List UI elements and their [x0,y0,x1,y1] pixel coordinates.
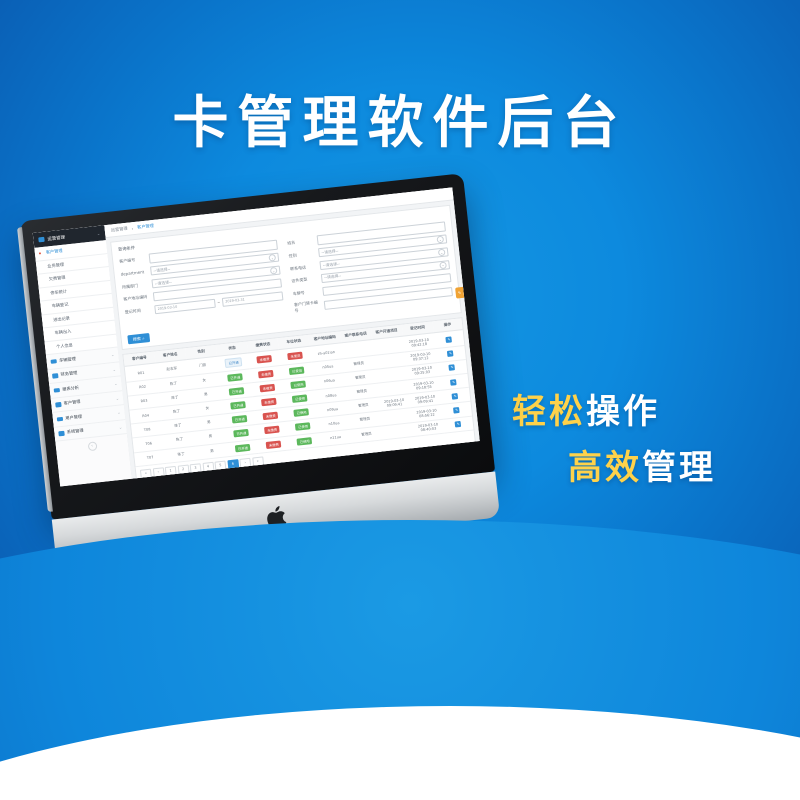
select-value: --请选择-- [323,261,340,269]
sidebar-header-label: 运营管理 [47,234,65,242]
pagination-page-4[interactable]: 4 [202,462,214,472]
floating-chat-tab[interactable]: ✎ [455,287,464,299]
search-form: 客户编号department--请选择--⌄所属部门--请选择--⌄客户地址编码… [119,221,453,332]
sidebar-item-label: 客户管理 [46,248,63,256]
edit-icon[interactable]: ✎ [452,393,459,400]
sidebar-group-label: 用户管理 [65,414,82,422]
field-label: 联系电话 [290,263,316,272]
field-label: 客户门禁卡编号 [294,300,321,315]
poster-canvas: 卡管理软件后台 轻松操作 高效管理 运营管理 ⌄ 客户管理业务管理欠费管 [0,0,800,800]
select-value: --请选择-- [321,248,338,256]
pagination-last[interactable]: » [252,456,264,466]
module-icon [52,373,58,378]
status-badge: 未缴费 [264,426,280,435]
sidebar-item-label: 欠费管理 [49,275,66,283]
status-badge: 未使用 [288,352,304,361]
status-badge: 已使用 [289,366,305,375]
pagination-page-5[interactable]: 5 [214,460,226,470]
status-badge: 已使用 [295,423,311,432]
chevron-down-icon: ⌄ [270,267,278,275]
date-to-input[interactable]: 2019-03-31 [222,291,284,307]
sidebar-group-label: 车辆管理 [59,356,76,364]
pagination-page-1[interactable]: 1 [165,466,177,476]
admin-app: 运营管理 ⌄ 客户管理业务管理欠费管理停车统计车辆登记进出记录车辆出入个人信息 … [33,187,480,486]
module-icon [58,431,64,436]
slogan-primary-gold: 轻松 [512,392,586,432]
collapse-icon: ‹ [87,441,97,451]
chevron-down-icon: ⌄ [436,236,444,244]
sidebar-group-label: 财务管理 [60,370,77,378]
chevron-down-icon: ⌄ [119,424,123,429]
pagination-prev[interactable]: ‹ [152,467,164,477]
sidebar-item-label: 车辆出入 [54,329,71,337]
field-label: 姓名 [287,238,313,247]
module-icon [57,416,63,421]
slogan-primary-white: 操作 [586,392,660,432]
status-badge: 已开通 [229,387,245,396]
sidebar-item-label: 停车统计 [50,288,67,296]
chevron-down-icon: ⌄ [97,231,101,236]
status-badge: 已开通 [232,415,248,424]
pagination-page-2[interactable]: 2 [177,464,189,474]
chevron-down-icon: ⌄ [111,352,115,357]
status-badge: 未缴费 [266,440,282,449]
field-label: 登记时间 [125,307,151,316]
sidebar-item-label: 进出记录 [53,315,70,323]
edit-icon[interactable]: ✎ [455,421,462,428]
status-badge: 未缴费 [263,412,279,421]
slogan-primary: 轻松操作 [512,384,660,433]
monitor-screen: 运营管理 ⌄ 客户管理业务管理欠费管理停车统计车辆登记进出记录车辆出入个人信息 … [33,187,480,486]
status-badge: 已开通 [227,373,243,382]
field-label: 车牌号 [293,289,319,298]
field-label: 客户编号 [119,256,145,265]
edit-icon[interactable]: ✎ [450,379,457,386]
sidebar-group-list: 车辆管理⌄财务管理⌄报表分析⌄客户管理⌄用户管理⌄系统管理⌄ [46,348,127,442]
chevron-down-icon: ⌄ [115,395,119,400]
search-form-right-column: 姓名性别--请选择--⌄联系电话--请选择--⌄证件类型--请选择--⌄车牌号客… [287,221,453,314]
pagination-page-6[interactable]: 6 [227,459,239,469]
pagination-first[interactable]: « [140,468,152,478]
page-title: 卡管理软件后台 [0,78,800,159]
breadcrumb-root[interactable]: 运营管理 [111,226,128,234]
module-icon [38,237,45,243]
slogan-secondary: 高效管理 [568,440,716,489]
status-badge: 已开通 [235,443,251,452]
module-icon [54,388,60,393]
status-badge: 未缴费 [260,384,276,393]
field-label: 所属部门 [122,281,148,290]
search-form-left-column: 客户编号department--请选择--⌄所属部门--请选择--⌄客户地址编码… [119,240,285,333]
select-value: --请选择-- [153,266,170,274]
edit-icon[interactable]: ✎ [449,365,456,372]
chevron-down-icon: ⌄ [114,381,118,386]
sidebar-group-label: 报表分析 [62,385,79,393]
chevron-down-icon: ⌄ [112,367,116,372]
status-badge: 未缴费 [257,355,273,364]
sidebar-item-label: 业务管理 [47,262,64,270]
chevron-down-icon: ⌄ [438,249,446,257]
pagination-page-3[interactable]: 3 [190,463,202,473]
field-label: 证件类型 [291,276,317,285]
field-label: 客户地址编码 [123,294,149,303]
edit-icon[interactable]: ✎ [446,336,453,343]
status-badge: 已使用 [294,409,310,418]
status-badge: 已使用 [291,380,307,389]
breadcrumb-current: 客户管理 [137,223,154,231]
main-content: 运营管理 › 客户管理 查询条件 客户编号department--请选择--⌄所… [104,187,479,478]
chevron-down-icon: ⌄ [439,261,447,269]
status-badge: 未缴费 [261,398,277,407]
status-badge: 已使用 [297,437,313,446]
status-badge: 未缴费 [258,370,274,379]
status-badge: 已开通 [231,401,247,410]
date-range-separator: ~ [217,300,220,304]
sidebar-group-label: 系统管理 [67,428,84,436]
sidebar-item-label: 车辆登记 [51,302,68,310]
field-label: department [120,269,146,277]
search-icon: ⌕ [142,336,145,341]
chevron-down-icon: ⌄ [117,410,121,415]
status-badge: 已开通 [225,357,243,368]
search-button[interactable]: 搜索 ⌕ [127,333,150,344]
date-from-input[interactable]: 2019-03-10 [154,298,216,314]
chevron-down-icon: ⌄ [268,254,276,262]
pagination-next[interactable]: › [239,458,251,468]
breadcrumb-separator: › [131,226,133,231]
slogan-secondary-white: 管理 [642,448,716,488]
monitor-bezel: 运营管理 ⌄ 客户管理业务管理欠费管理停车统计车辆登记进出记录车辆出入个人信息 … [19,173,495,519]
sidebar-group-label: 客户管理 [64,399,81,407]
select-value: --请选择-- [324,273,341,281]
search-button-label: 搜索 [133,336,142,343]
field-label: 性别 [288,250,314,259]
status-badge: 已开通 [234,429,250,438]
module-icon [50,359,56,364]
slogan-secondary-gold: 高效 [568,448,642,488]
status-badge: 已使用 [292,394,308,403]
select-value: --请选择-- [155,279,172,287]
edit-icon[interactable]: ✎ [453,407,460,414]
sidebar-item-label: 个人信息 [56,342,73,350]
sidebar-sub-list: 客户管理业务管理欠费管理停车统计车辆登记进出记录车辆出入个人信息 [34,240,117,355]
edit-icon[interactable]: ✎ [447,351,454,358]
module-icon [55,402,61,407]
